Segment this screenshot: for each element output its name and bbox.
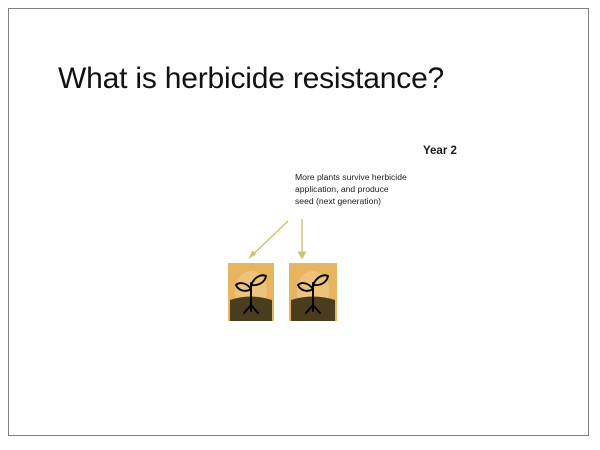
seedling-icon bbox=[289, 263, 337, 321]
seedling-icon bbox=[228, 263, 274, 321]
slide-canvas: What is herbicide resistance? Year 2 Mor… bbox=[0, 0, 600, 450]
caption-text-block: More plants survive herbicide applicatio… bbox=[295, 171, 420, 208]
caption-line-1: More plants survive herbicide bbox=[295, 171, 420, 183]
arrow-down-icon bbox=[297, 219, 306, 260]
caption-line-3: seed (next generation) bbox=[295, 195, 420, 207]
year-label: Year 2 bbox=[423, 145, 457, 157]
caption-line-2: application, and produce bbox=[295, 183, 420, 195]
arrow-down-left-icon bbox=[248, 221, 288, 259]
plant-tile-1 bbox=[228, 263, 274, 321]
page-title: What is herbicide resistance? bbox=[58, 62, 444, 95]
plant-tile-2 bbox=[289, 263, 337, 321]
